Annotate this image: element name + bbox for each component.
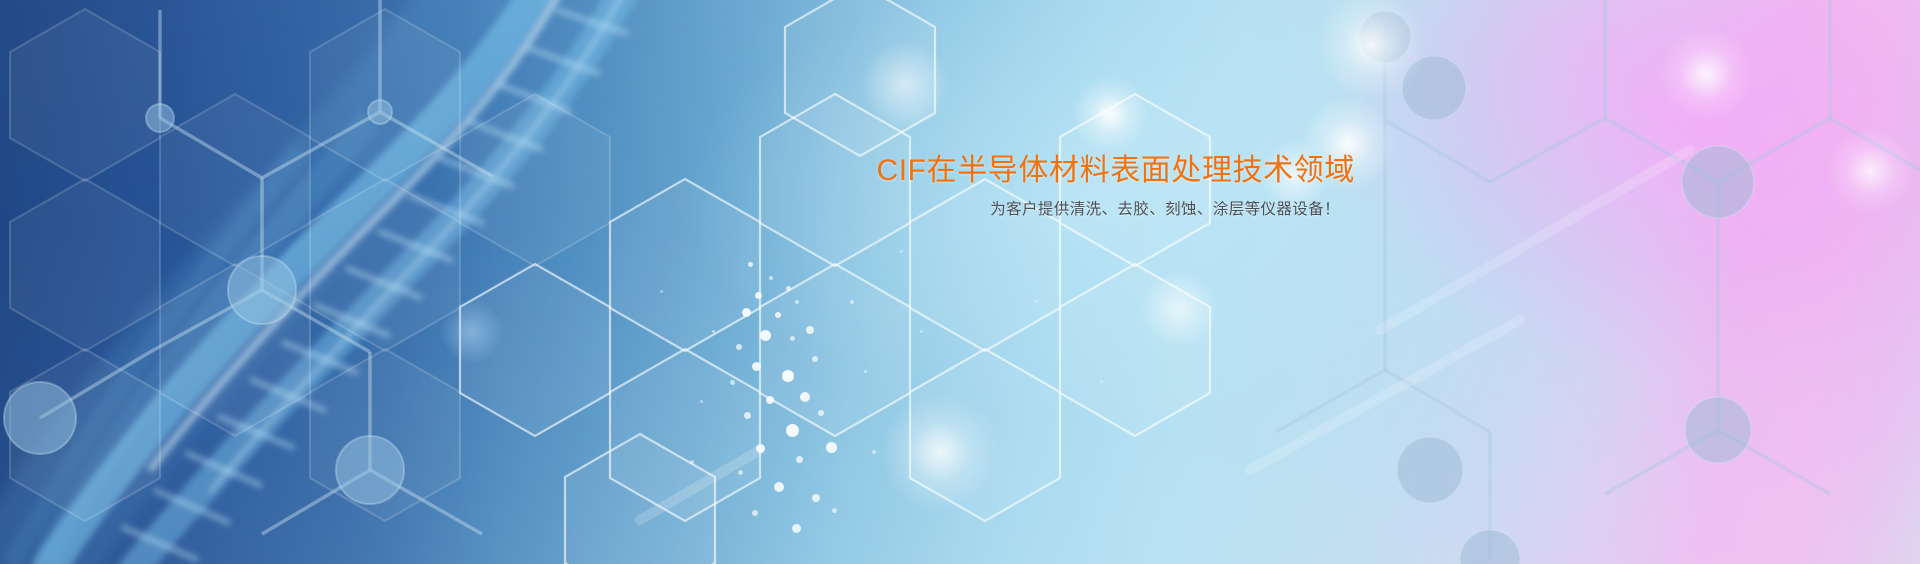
hero-banner: CIF在半导体材料表面处理技术领域 为客户提供清洗、去胶、刻蚀、涂层等仪器设备！: [0, 0, 1920, 564]
glow-spot: [1828, 128, 1914, 214]
particle-burst: [0, 0, 1920, 564]
glow-spot: [1140, 270, 1218, 348]
glow-spot: [1260, 140, 1330, 210]
glow-spot: [440, 300, 504, 364]
glow-spot: [1660, 28, 1752, 120]
glow-spot: [1316, 0, 1426, 100]
glow-spot: [880, 392, 1000, 512]
glow-spot: [1072, 76, 1148, 152]
glow-spot: [860, 40, 950, 130]
